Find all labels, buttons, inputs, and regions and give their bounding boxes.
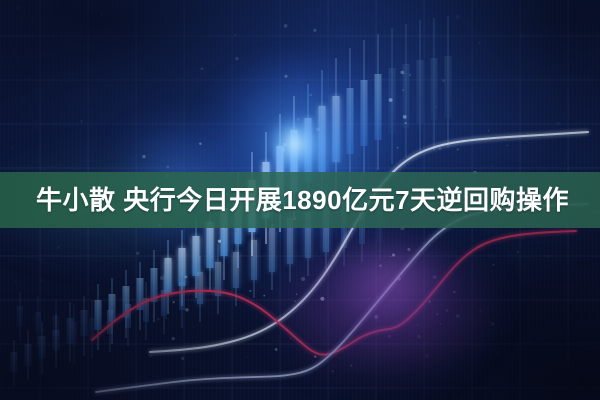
screenshot-root: 牛小散 央行今日开展1890亿元7天逆回购操作 — [0, 0, 600, 400]
headline-title: 牛小散 央行今日开展1890亿元7天逆回购操作 — [36, 187, 569, 213]
headline-banner: 牛小散 央行今日开展1890亿元7天逆回购操作 — [0, 172, 600, 228]
